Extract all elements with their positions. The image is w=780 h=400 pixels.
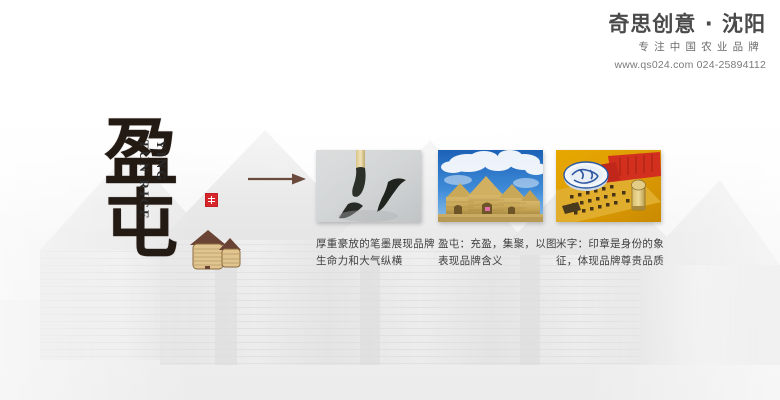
company-name: 奇思创意 · 沈阳 [608,14,766,35]
brand-latin-line1: YING [153,140,170,236]
concept-card-caption: 盈屯：充盈，集聚，以图表现品牌含义 [438,236,564,270]
right-arrow-icon [248,172,306,186]
concept-card[interactable]: 盈屯：充盈，集聚，以图表现品牌含义 [438,150,543,270]
granary-silo-icon [186,228,242,272]
concept-card[interactable]: 厚重豪放的笔墨展现品牌生命力和大气纵横 [316,150,421,270]
seal-stamp-porcelain-image[interactable] [556,150,661,222]
brand-latin-line2: TUN RICE [136,140,153,236]
company-tagline: 专注中国农业品牌 [608,42,766,53]
company-contact: www.qs024.com 024-25894112 [608,60,766,71]
company-header: 奇思创意 · 沈阳 专注中国农业品牌 www.qs024.com 024-258… [608,14,766,70]
brand-name-latin: YING TUN RICE [130,140,170,236]
calligraphy-brush-stroke-image[interactable] [316,150,421,222]
red-seal-stamp-icon [205,193,218,207]
poster-content: 奇思创意 · 沈阳 专注中国农业品牌 www.qs024.com 024-258… [0,0,780,400]
concept-card-caption: 米字：印章是身份的象征，体现品牌尊贵品质 [556,236,674,270]
concept-card[interactable]: 米字：印章是身份的象征，体现品牌尊贵品质 [556,150,661,270]
concept-card-caption: 厚重豪放的笔墨展现品牌生命力和大气纵横 [316,236,442,270]
grain-silo-barns-image[interactable] [438,150,543,222]
